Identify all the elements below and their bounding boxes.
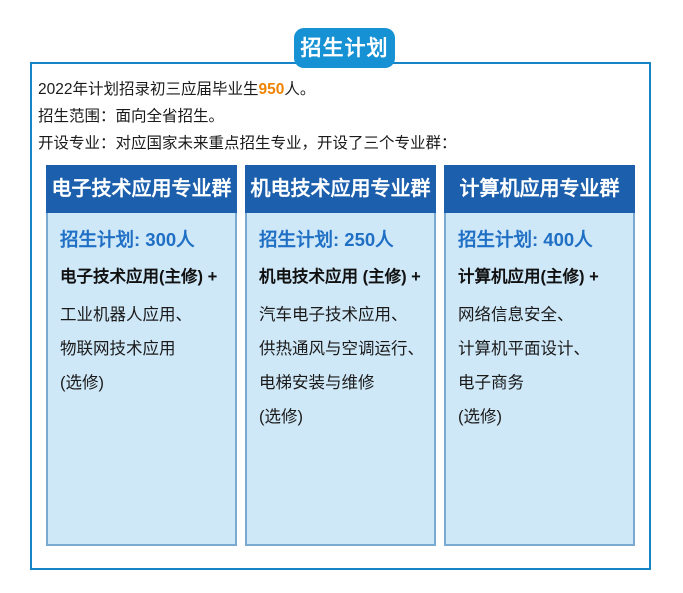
- intro-line1-prefix: 2022年计划招录初三应届毕业生: [38, 81, 258, 98]
- intro-line-enrollment: 2022年计划招录初三应届毕业生950人。: [38, 76, 598, 103]
- admission-plan-infographic: 招生计划 2022年计划招录初三应届毕业生950人。 招生范围：面向全省招生。 …: [0, 0, 683, 593]
- major-group-computer: 计算机应用专业群 招生计划: 400人 计算机应用(主修) + 网络信息安全、 …: [444, 165, 635, 546]
- major-group-elective-list: 网络信息安全、 计算机平面设计、 电子商务: [446, 298, 633, 400]
- major-group-electronics: 电子技术应用专业群 招生计划: 300人 电子技术应用(主修) + 工业机器人应…: [46, 165, 237, 546]
- major-group-elective-note: (选修): [48, 366, 235, 400]
- major-group-header: 计算机应用专业群: [444, 165, 635, 213]
- section-title-badge: 招生计划: [294, 28, 395, 68]
- major-group-plan: 招生计划: 250人: [247, 229, 434, 251]
- elective-item: 供热通风与空调运行、: [259, 332, 422, 366]
- major-group-elective-note: (选修): [247, 400, 434, 434]
- elective-item: 电子商务: [458, 366, 621, 400]
- intro-line1-highlight: 950: [258, 81, 284, 98]
- major-group-mechatronics: 机电技术应用专业群 招生计划: 250人 机电技术应用 (主修) + 汽车电子技…: [245, 165, 436, 546]
- elective-item: 物联网技术应用: [60, 332, 223, 366]
- major-group-plan: 招生计划: 400人: [446, 229, 633, 251]
- major-group-plan: 招生计划: 300人: [48, 229, 235, 251]
- major-group-header: 机电技术应用专业群: [245, 165, 436, 213]
- major-group-elective-note: (选修): [446, 400, 633, 434]
- major-group-header-label: 电子技术应用专业群: [52, 179, 232, 199]
- intro-paragraph: 2022年计划招录初三应届毕业生950人。 招生范围：面向全省招生。 开设专业：…: [38, 76, 598, 157]
- section-title-label: 招生计划: [301, 38, 389, 59]
- major-group-main-major: 机电技术应用 (主修) +: [247, 267, 434, 288]
- elective-item: 网络信息安全、: [458, 298, 621, 332]
- major-groups-container: 电子技术应用专业群 招生计划: 300人 电子技术应用(主修) + 工业机器人应…: [46, 165, 636, 546]
- major-group-main-major: 计算机应用(主修) +: [446, 267, 633, 288]
- major-group-header-label: 计算机应用专业群: [460, 179, 620, 199]
- major-group-elective-list: 汽车电子技术应用、 供热通风与空调运行、 电梯安装与维修: [247, 298, 434, 400]
- major-group-header: 电子技术应用专业群: [46, 165, 237, 213]
- major-group-elective-list: 工业机器人应用、 物联网技术应用: [48, 298, 235, 366]
- major-group-main-major: 电子技术应用(主修) +: [48, 267, 235, 288]
- elective-item: 汽车电子技术应用、: [259, 298, 422, 332]
- elective-item: 工业机器人应用、: [60, 298, 223, 332]
- intro-line1-suffix: 人。: [284, 81, 315, 98]
- elective-item: 计算机平面设计、: [458, 332, 621, 366]
- elective-item: 电梯安装与维修: [259, 366, 422, 400]
- intro-line-majors: 开设专业：对应国家未来重点招生专业，开设了三个专业群：: [38, 130, 598, 157]
- major-group-header-label: 机电技术应用专业群: [251, 179, 431, 199]
- intro-line-scope: 招生范围：面向全省招生。: [38, 103, 598, 130]
